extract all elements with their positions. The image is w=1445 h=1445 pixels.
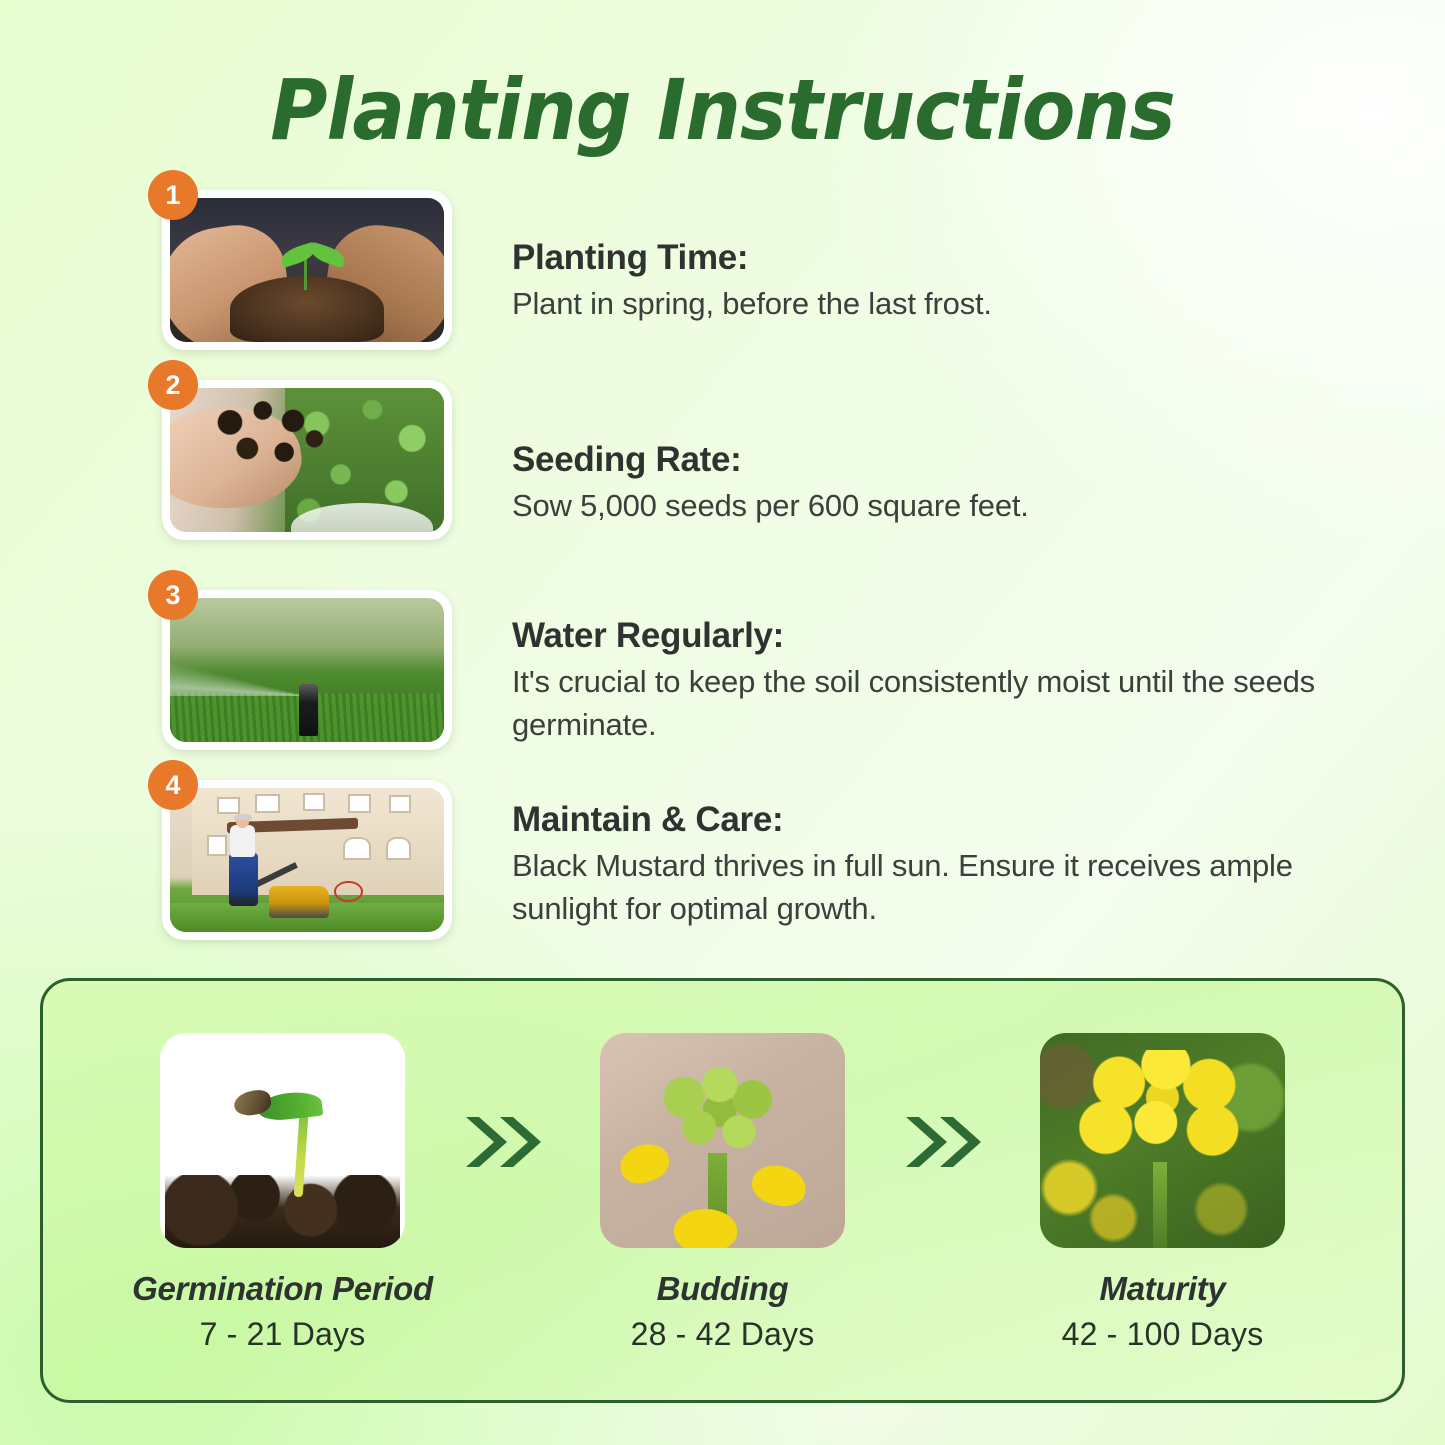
lawn-sprinkler-photo	[170, 598, 444, 742]
man-mowing-lawn-photo	[170, 788, 444, 932]
photo-frame	[162, 780, 452, 940]
steps-list: 1 Planting Time: Plant in spring, before…	[152, 190, 1402, 960]
timeline-stage-budding: Budding 28 - 42 Days	[558, 1033, 888, 1353]
step-media: 3	[162, 590, 452, 750]
step-title: Water Regularly:	[512, 614, 1402, 657]
step-item-planting-time: 1 Planting Time: Plant in spring, before…	[152, 190, 1402, 380]
hand-scattering-seeds-photo	[170, 388, 444, 532]
step-media: 1	[162, 190, 452, 350]
planting-instructions-infographic: Planting Instructions 1 Planting Time	[0, 0, 1445, 1445]
stage-label: Budding	[657, 1270, 789, 1308]
step-body: It's crucial to keep the soil consistent…	[512, 661, 1402, 745]
stage-days: 7 - 21 Days	[200, 1316, 366, 1353]
stage-days: 42 - 100 Days	[1062, 1316, 1264, 1353]
page-title: Planting Instructions	[51, 66, 1395, 154]
timeline-stage-germination: Germination Period 7 - 21 Days	[118, 1033, 448, 1353]
step-text: Seeding Rate: Sow 5,000 seeds per 600 sq…	[452, 380, 1402, 528]
double-chevron-right-icon	[888, 1033, 998, 1173]
hands-holding-seedling-photo	[170, 198, 444, 342]
photo-frame	[162, 590, 452, 750]
step-number-badge: 1	[148, 170, 198, 220]
growth-timeline-row: Germination Period 7 - 21 Days Budd	[43, 1033, 1402, 1353]
step-title: Seeding Rate:	[512, 438, 1402, 481]
step-number-badge: 3	[148, 570, 198, 620]
step-media: 4	[162, 780, 452, 940]
step-text: Maintain & Care: Black Mustard thrives i…	[452, 780, 1402, 930]
photo-frame	[162, 190, 452, 350]
step-body: Sow 5,000 seeds per 600 square feet.	[512, 485, 1402, 527]
step-number-badge: 4	[148, 760, 198, 810]
step-body: Black Mustard thrives in full sun. Ensur…	[512, 845, 1402, 929]
mustard-flower-buds-photo	[600, 1033, 845, 1248]
timeline-stage-maturity: Maturity 42 - 100 Days	[998, 1033, 1328, 1353]
step-text: Planting Time: Plant in spring, before t…	[452, 190, 1402, 326]
step-title: Planting Time:	[512, 236, 1402, 279]
step-item-water-regularly: 3 Water Regularly: It's crucial to keep …	[152, 590, 1402, 780]
growth-timeline-panel: Germination Period 7 - 21 Days Budd	[40, 978, 1405, 1403]
photo-frame	[162, 380, 452, 540]
step-number-badge: 2	[148, 360, 198, 410]
germinating-seed-photo	[160, 1033, 405, 1248]
double-chevron-right-icon	[448, 1033, 558, 1173]
step-text: Water Regularly: It's crucial to keep th…	[452, 590, 1402, 746]
yellow-mustard-flowers-photo	[1040, 1033, 1285, 1248]
step-media: 2	[162, 380, 452, 540]
stage-days: 28 - 42 Days	[631, 1316, 815, 1353]
step-title: Maintain & Care:	[512, 798, 1402, 841]
step-item-seeding-rate: 2 Seeding Rate: Sow 5,000 seeds per 600 …	[152, 380, 1402, 590]
stage-label: Maturity	[1100, 1270, 1226, 1308]
step-item-maintain-care: 4	[152, 780, 1402, 960]
stage-label: Germination Period	[132, 1270, 433, 1308]
step-body: Plant in spring, before the last frost.	[512, 283, 1402, 325]
